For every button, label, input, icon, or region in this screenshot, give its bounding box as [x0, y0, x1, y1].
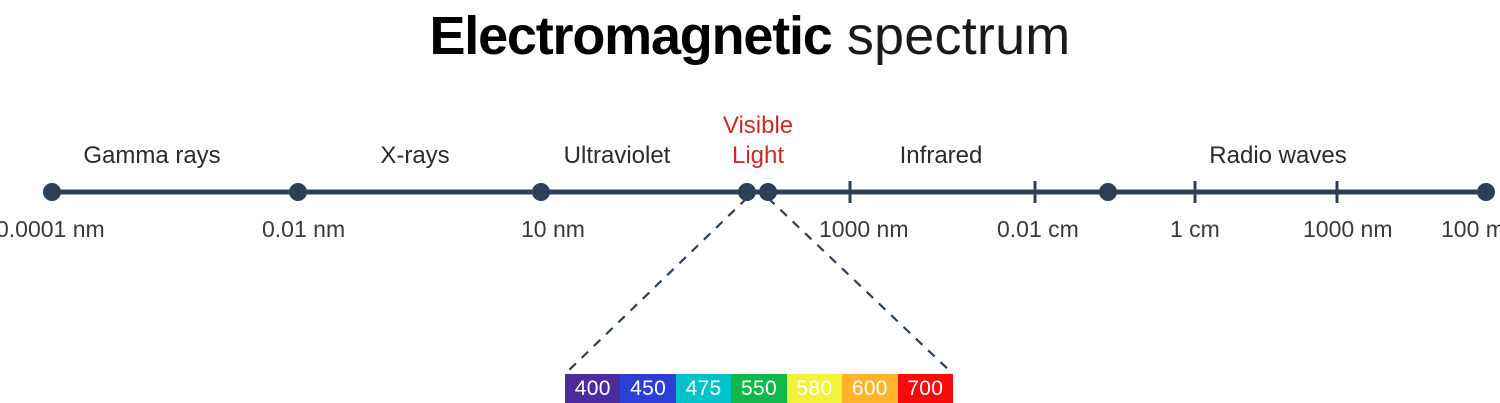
band-label-radio-waves: Radio waves	[1209, 141, 1346, 171]
axis-dot-visible-start	[738, 183, 756, 201]
band-label-visible-light: Visible Light	[723, 111, 793, 171]
band-label-gamma-rays: Gamma rays	[83, 141, 220, 171]
color-segment-550: 550	[731, 374, 786, 403]
band-label-visible-line1: Visible	[723, 111, 793, 141]
tick-label-100m: 100 m	[1441, 216, 1500, 242]
title-light-part: spectrum	[832, 6, 1071, 66]
band-label-infrared: Infrared	[900, 141, 983, 171]
color-segment-450: 450	[620, 374, 675, 403]
band-label-ultraviolet: Ultraviolet	[564, 141, 671, 171]
axis-dot-radio-mid	[1099, 183, 1117, 201]
tick-label-1000nm-a: 1000 nm	[819, 216, 909, 242]
color-segment-700: 700	[898, 374, 953, 403]
color-segment-475: 475	[676, 374, 731, 403]
color-segment-600: 600	[842, 374, 897, 403]
axis-dot-0.01nm	[289, 183, 307, 201]
tick-label-1cm: 1 cm	[1170, 216, 1220, 242]
axis-dot-visible-end	[759, 183, 777, 201]
axis-tick-marks	[850, 181, 1337, 203]
tick-label-10nm: 10 nm	[521, 216, 585, 242]
axis-dot-100m	[1477, 183, 1495, 201]
tick-label-1000nm-b: 1000 nm	[1303, 216, 1393, 242]
tick-label-0.0001nm: 0.0001 nm	[0, 216, 105, 242]
tick-label-0.01cm: 0.01 cm	[997, 216, 1079, 242]
page-title: Electromagnetic spectrum	[0, 0, 1500, 72]
callout-leader-left	[566, 198, 747, 373]
band-label-visible-line2: Light	[723, 141, 793, 171]
color-segment-400: 400	[565, 374, 620, 403]
color-segment-580: 580	[787, 374, 842, 403]
axis-dot-markers	[43, 183, 1495, 201]
axis-dot-0.0001nm	[43, 183, 61, 201]
axis-dot-10nm	[532, 183, 550, 201]
title-bold-part: Electromagnetic	[429, 6, 831, 66]
visible-light-color-bar: 400 450 475 550 580 600 700	[565, 374, 953, 403]
tick-label-0.01nm: 0.01 nm	[262, 216, 345, 242]
band-label-x-rays: X-rays	[380, 141, 449, 171]
